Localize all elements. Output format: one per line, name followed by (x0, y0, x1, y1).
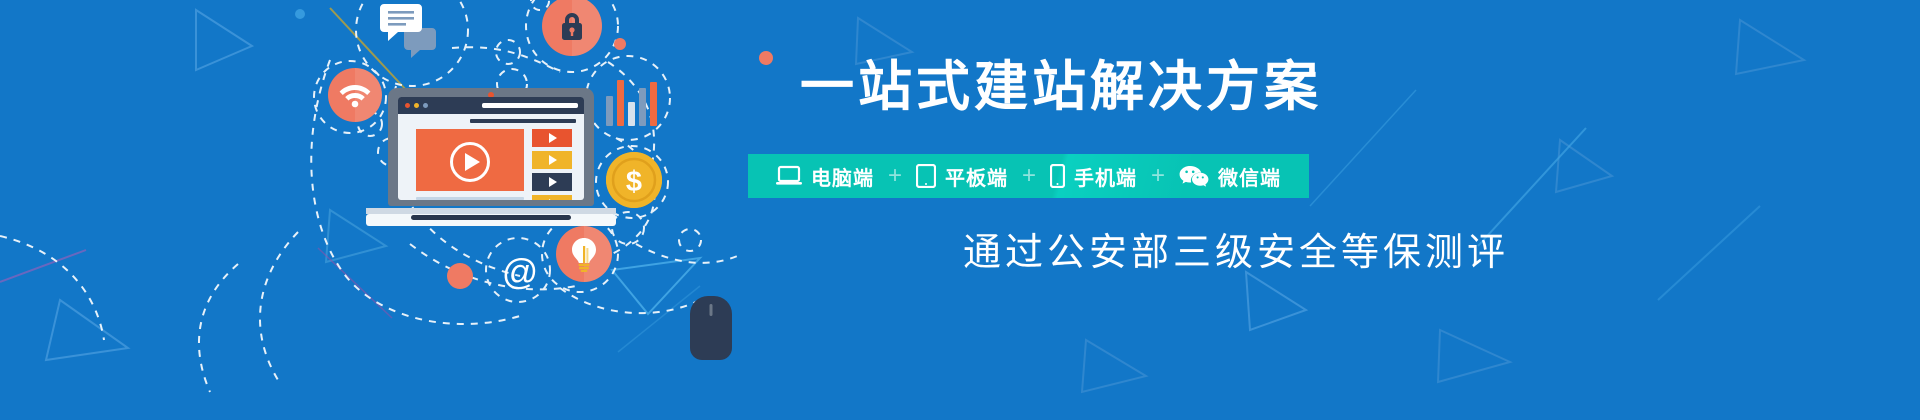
page-heading-line (470, 119, 576, 123)
hero-banner: $ @ (0, 0, 1920, 420)
side-thumbnail[interactable] (532, 129, 572, 147)
page-subtitle: 通过公安部三级安全等保测评 (963, 232, 1509, 274)
badge-separator: + (1147, 164, 1169, 188)
video-block (416, 129, 524, 191)
play-triangle-icon (549, 133, 557, 143)
badge-label: 平板端 (945, 162, 1008, 191)
chat-bubbles-icon (378, 0, 448, 60)
browser-dot-blue (423, 103, 428, 108)
tablet-icon (916, 164, 936, 188)
play-triangle-icon (549, 199, 557, 200)
badge-wechat[interactable]: 微信端 (1169, 162, 1291, 191)
laptop-base (366, 214, 616, 226)
laptop-screen (398, 97, 584, 200)
play-triangle-icon (465, 153, 480, 171)
at-sign-icon: @ (500, 252, 540, 292)
wifi-icon (328, 68, 382, 122)
side-thumbnail[interactable] (532, 195, 572, 200)
laptop-illustration (388, 88, 594, 226)
side-thumbnail[interactable] (532, 173, 572, 191)
phone-icon (1050, 164, 1065, 188)
svg-text:@: @ (502, 252, 539, 292)
badge-label: 电脑端 (811, 162, 874, 191)
lock-icon (542, 0, 602, 56)
play-button[interactable] (450, 142, 490, 182)
badge-separator: + (1018, 164, 1040, 188)
badge-phone[interactable]: 手机端 (1040, 162, 1147, 191)
browser-url-bar (482, 103, 578, 108)
play-triangle-icon (549, 177, 557, 187)
badge-separator: + (884, 164, 906, 188)
mouse-icon (690, 296, 732, 360)
dollar-coin-icon: $ (606, 152, 662, 208)
bar-chart-icon (606, 74, 657, 126)
badge-desktop[interactable]: 电脑端 (766, 162, 884, 191)
laptop-lid (388, 88, 594, 206)
lightbulb-icon (556, 226, 612, 282)
play-triangle-icon (549, 155, 557, 165)
side-thumbnail[interactable] (532, 151, 572, 169)
platform-badge-bar: 电脑端 + 平板端 + 手机端 + (748, 154, 1309, 198)
page-title: 一站式建站解决方案 (800, 58, 1322, 116)
browser-dot-yellow (414, 103, 419, 108)
browser-dot-red (405, 103, 410, 108)
laptop-icon (776, 165, 802, 187)
wechat-icon (1179, 165, 1209, 187)
badge-tablet[interactable]: 平板端 (906, 162, 1018, 191)
badge-label: 微信端 (1218, 162, 1281, 191)
browser-bar (398, 97, 584, 114)
body-line (416, 197, 524, 200)
svg-text:$: $ (626, 166, 642, 198)
badge-label: 手机端 (1074, 162, 1137, 191)
